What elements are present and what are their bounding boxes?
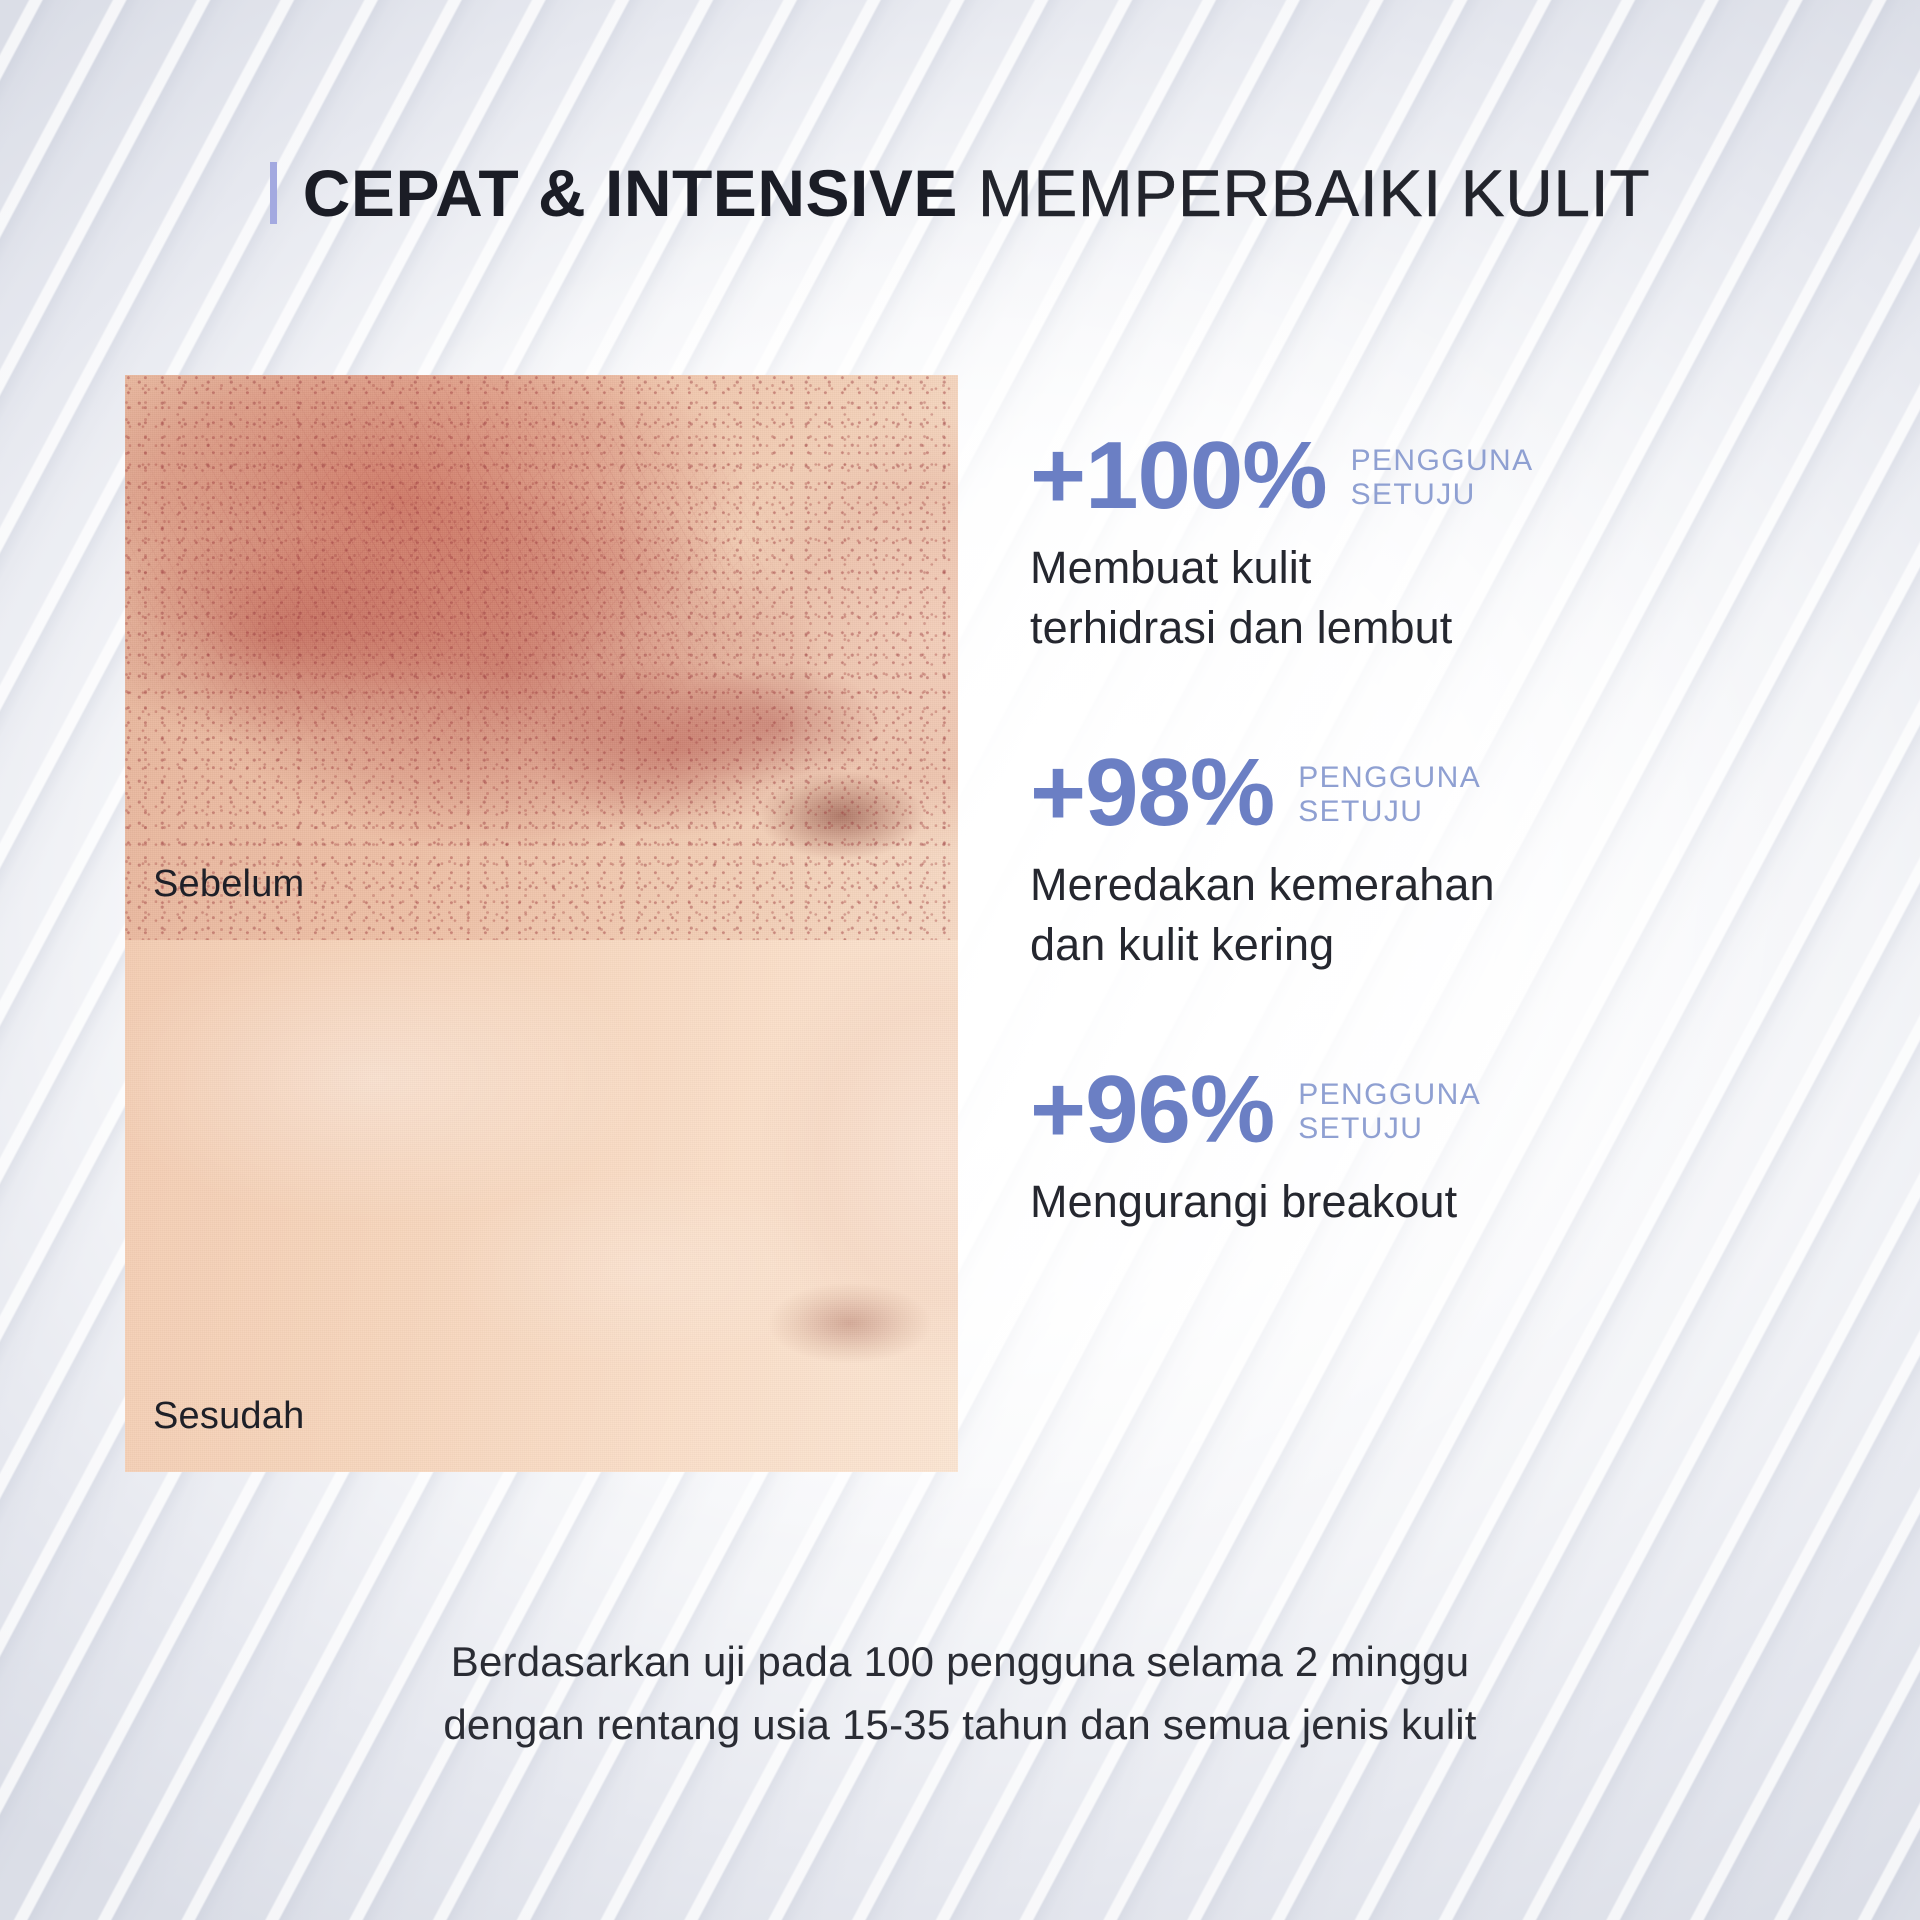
stat-headline-row: +98% PENGGUNA SETUJU bbox=[1030, 747, 1850, 839]
stat-description-line2: terhidrasi dan lembut bbox=[1030, 598, 1850, 658]
after-photo: Sesudah bbox=[125, 940, 958, 1472]
footer-disclaimer: Berdasarkan uji pada 100 pengguna selama… bbox=[0, 1630, 1920, 1756]
stat-value: +98% bbox=[1030, 747, 1274, 839]
before-after-photo-panel: Sebelum Sesudah bbox=[125, 375, 958, 1472]
stat-description: Mengurangi breakout bbox=[1030, 1172, 1850, 1232]
stat-value: +96% bbox=[1030, 1064, 1274, 1156]
stat-caption-line1: PENGGUNA bbox=[1351, 444, 1534, 478]
stat-caption-line1: PENGGUNA bbox=[1298, 761, 1481, 795]
stat-caption: PENGGUNA SETUJU bbox=[1298, 1078, 1481, 1145]
statistics-list: +100% PENGGUNA SETUJU Membuat kulit terh… bbox=[1030, 430, 1850, 1232]
promo-poster: CEPAT & INTENSIVE MEMPERBAIKI KULIT Sebe… bbox=[0, 0, 1920, 1920]
accent-bar-icon bbox=[270, 162, 277, 224]
stat-description-line2: dan kulit kering bbox=[1030, 915, 1850, 975]
footer-line1: Berdasarkan uji pada 100 pengguna selama… bbox=[0, 1630, 1920, 1693]
stat-caption-line2: SETUJU bbox=[1298, 1112, 1481, 1146]
headline-bold: CEPAT & INTENSIVE bbox=[303, 160, 958, 226]
stat-description: Membuat kulit terhidrasi dan lembut bbox=[1030, 538, 1850, 659]
footer-line2: dengan rentang usia 15-35 tahun dan semu… bbox=[0, 1693, 1920, 1756]
stat-headline-row: +100% PENGGUNA SETUJU bbox=[1030, 430, 1850, 522]
stat-caption: PENGGUNA SETUJU bbox=[1298, 761, 1481, 828]
headline: CEPAT & INTENSIVE MEMPERBAIKI KULIT bbox=[0, 160, 1920, 226]
headline-light: MEMPERBAIKI KULIT bbox=[978, 160, 1650, 226]
skin-capillaries-overlay bbox=[125, 375, 958, 940]
before-photo: Sebelum bbox=[125, 375, 958, 940]
stat-item: +100% PENGGUNA SETUJU Membuat kulit terh… bbox=[1030, 430, 1850, 659]
stat-description-line1: Membuat kulit bbox=[1030, 538, 1850, 598]
stat-item: +96% PENGGUNA SETUJU Mengurangi breakout bbox=[1030, 1064, 1850, 1232]
stat-caption-line2: SETUJU bbox=[1351, 478, 1534, 512]
stat-caption-line2: SETUJU bbox=[1298, 795, 1481, 829]
stat-item: +98% PENGGUNA SETUJU Meredakan kemerahan… bbox=[1030, 747, 1850, 976]
stat-caption-line1: PENGGUNA bbox=[1298, 1078, 1481, 1112]
skin-sheen-overlay bbox=[125, 940, 958, 1472]
stat-description-line1: Mengurangi breakout bbox=[1030, 1172, 1850, 1232]
before-photo-label: Sebelum bbox=[153, 863, 304, 906]
stat-caption: PENGGUNA SETUJU bbox=[1351, 444, 1534, 511]
after-photo-label: Sesudah bbox=[153, 1395, 304, 1438]
stat-value: +100% bbox=[1030, 430, 1327, 522]
stat-description-line1: Meredakan kemerahan bbox=[1030, 855, 1850, 915]
stat-headline-row: +96% PENGGUNA SETUJU bbox=[1030, 1064, 1850, 1156]
stat-description: Meredakan kemerahan dan kulit kering bbox=[1030, 855, 1850, 976]
